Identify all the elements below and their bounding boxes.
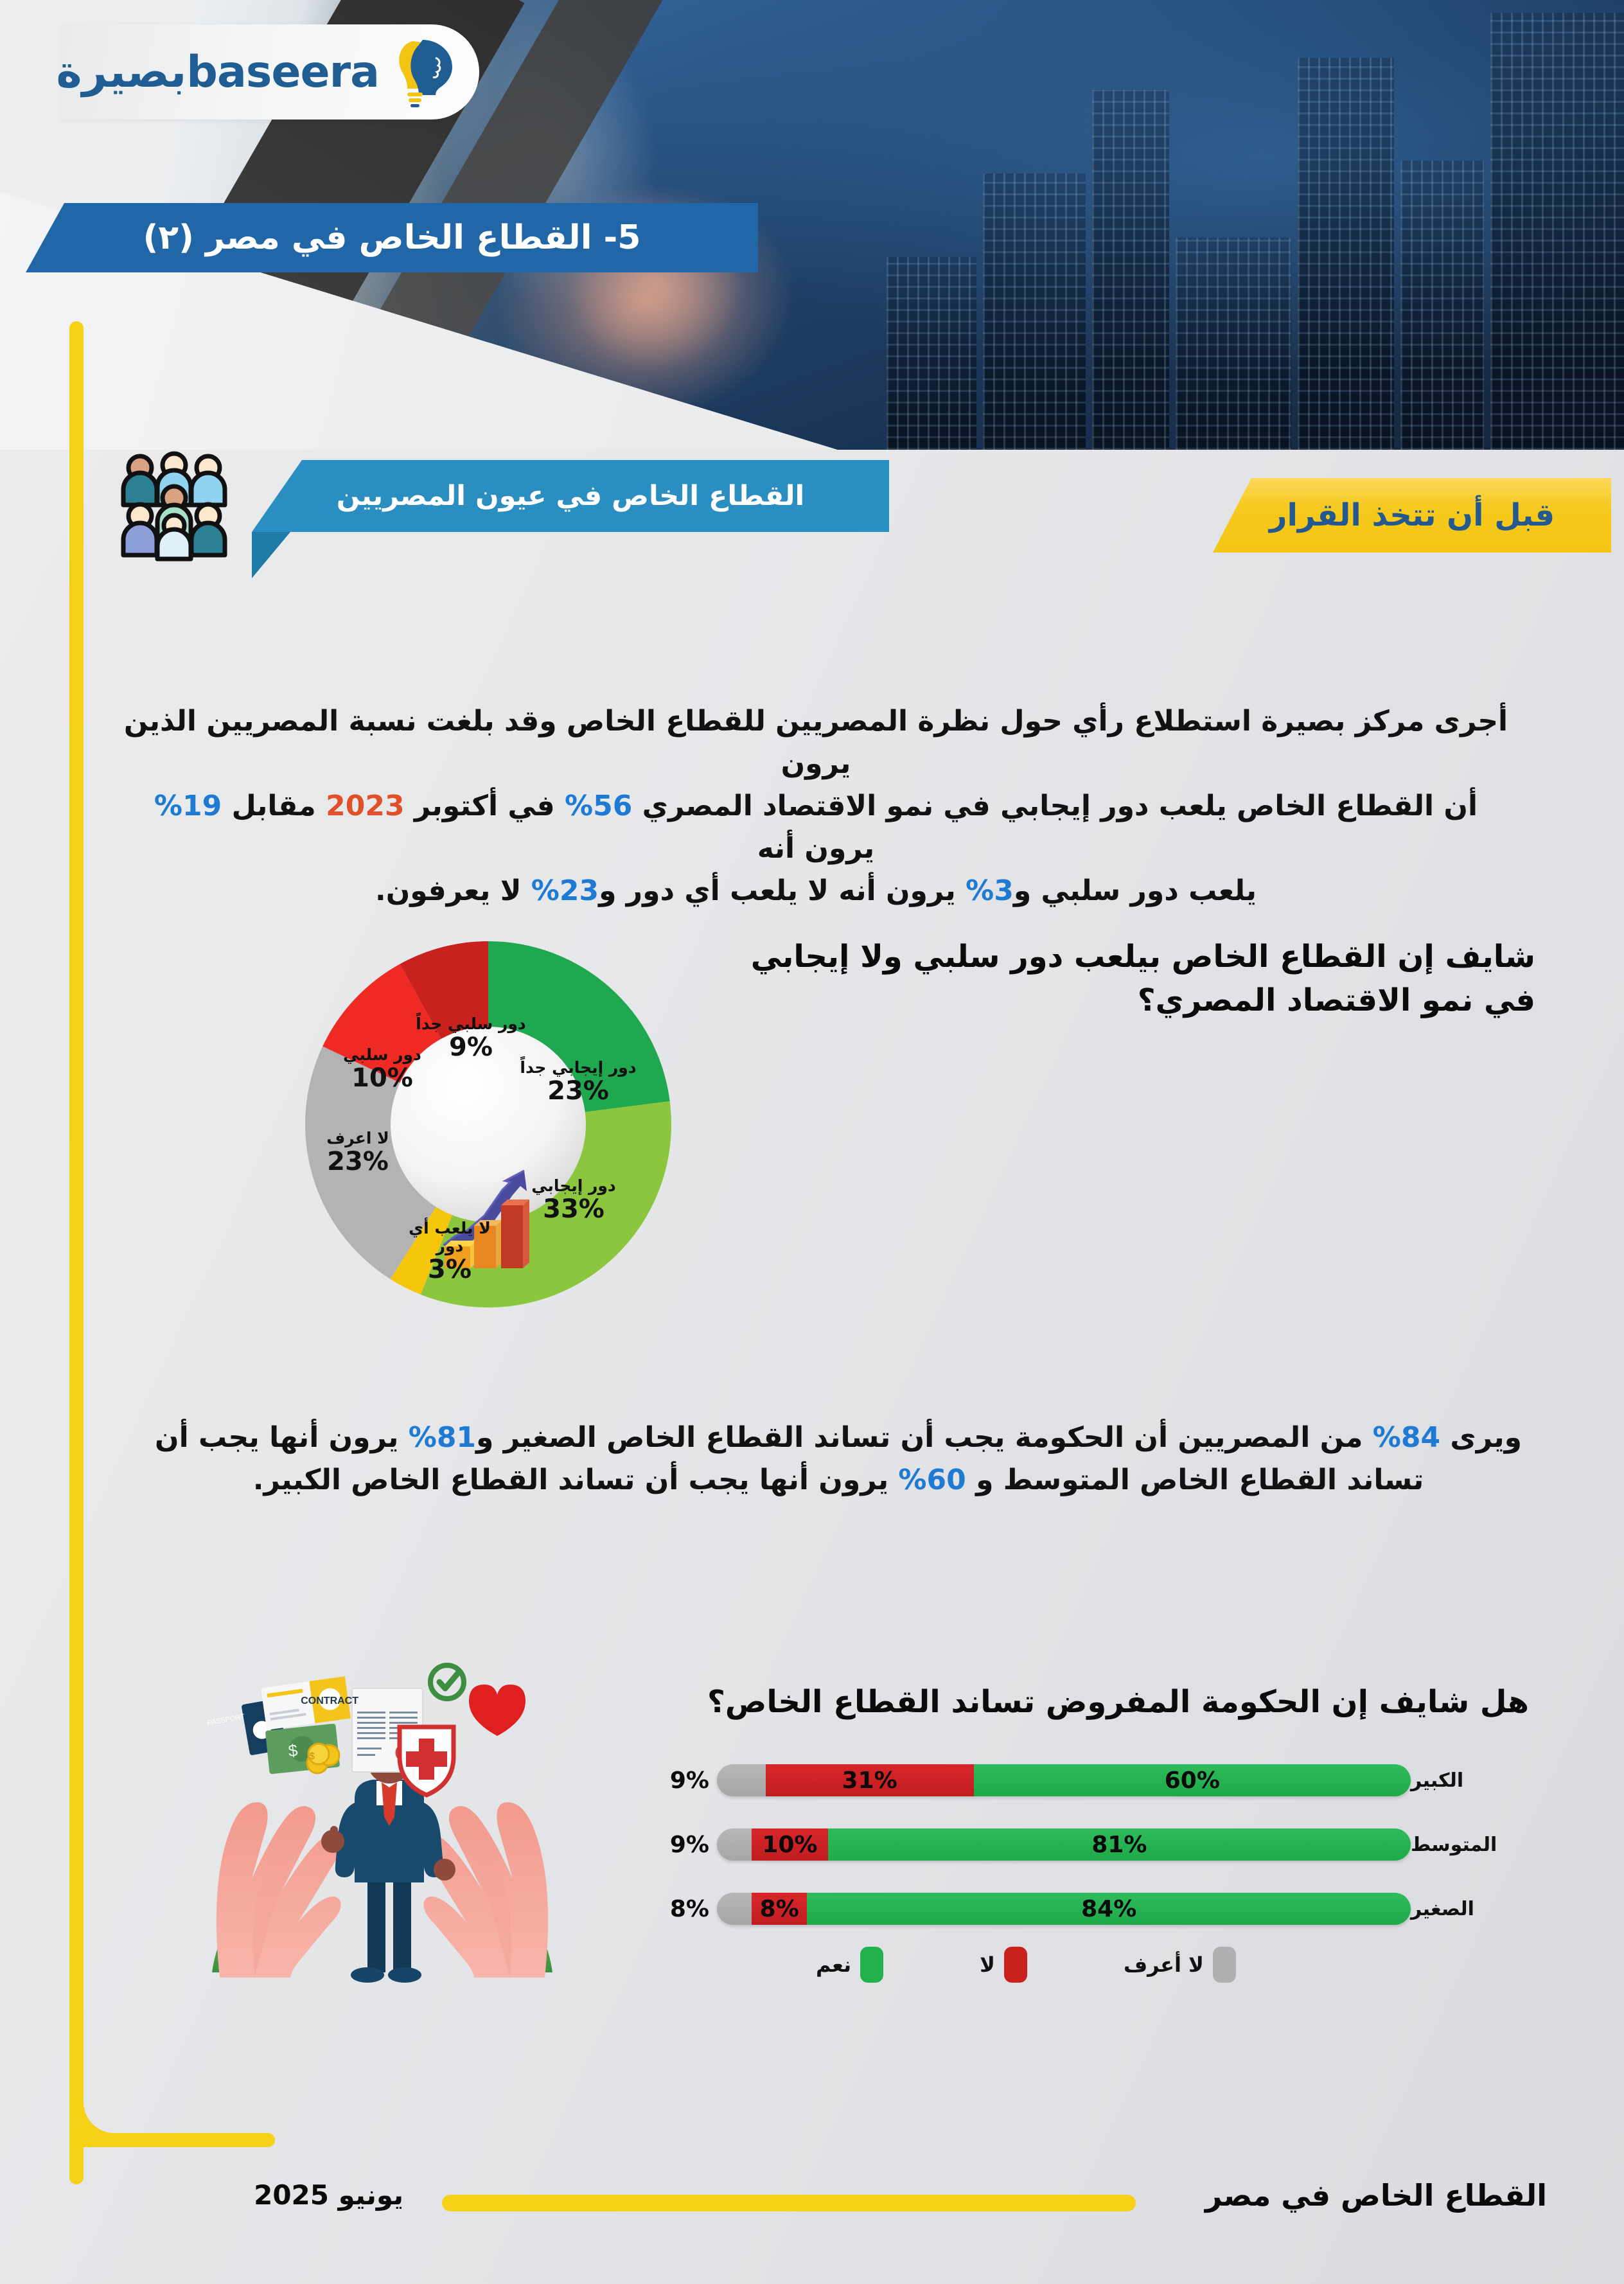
page-title: 5- القطاع الخاص في مصر (٢) (143, 218, 641, 257)
section-banner-label: القطاع الخاص في عيون المصريين (337, 480, 804, 512)
donut-label-name: دور سلبي جداً (410, 1015, 532, 1033)
bar-track: 84% 8% (717, 1893, 1411, 1925)
government-support-stacked-bars: الكبير 60% 31% 9% المتوسط 81% 10% 9% (655, 1764, 1516, 1956)
bars-legend: نعم لا لا أعرف (816, 1947, 1381, 1983)
donut-label-positive: دور إيجابي 33% (513, 1177, 635, 1224)
skyline-building (1176, 238, 1291, 450)
people-group-icon (119, 450, 229, 565)
section-banner-main: القطاع الخاص في عيون المصريين (252, 460, 889, 532)
intro-line-2b: في أكتوبر (405, 790, 565, 822)
infographic-page: baseeraبصيرة 5- القطاع الخاص في مصر (٢) (0, 0, 1624, 2284)
check-circle-icon (430, 1665, 464, 1699)
bar-track: 60% 31% (717, 1764, 1411, 1796)
bar-value-yes: 60% (1165, 1767, 1220, 1794)
bar-segment-yes: 60% (974, 1764, 1411, 1796)
donut-label-no-role: لا يلعب أي دور 3% (402, 1219, 498, 1284)
bar-row: الصغير 84% 8% 8% (655, 1892, 1516, 1925)
sec-pct-84: 84% (1373, 1421, 1440, 1454)
question-1-title: شايف إن القطاع الخاص بيلعب دور سلبي ولا … (745, 935, 1535, 1022)
page-footer: القطاع الخاص في مصر يونيو 2025 (0, 2183, 1624, 2222)
logo-arabic: بصيرة (57, 47, 187, 98)
bar-row: المتوسط 81% 10% 9% (655, 1828, 1516, 1861)
left-yellow-rail-foot (69, 2133, 275, 2147)
bar-value-no: 8% (760, 1896, 799, 1922)
donut-label-value: 10% (328, 1064, 437, 1093)
legend-swatch-yes (860, 1947, 883, 1983)
donut-label-value: 3% (402, 1255, 498, 1284)
bar-segment-yes: 84% (807, 1893, 1411, 1925)
intro-line-2d: يرون أنه (757, 832, 874, 865)
intro-line-1: أجرى مركز بصيرة استطلاع رأي حول نظرة الم… (124, 705, 1508, 780)
bar-category-label: الكبير (1411, 1769, 1516, 1792)
legend-swatch-dontknow (1213, 1947, 1236, 1983)
bar-segment-no: 31% (766, 1764, 974, 1796)
donut-label-value: 9% (410, 1033, 532, 1062)
svg-text:$: $ (310, 1751, 315, 1762)
baseera-logo[interactable]: baseeraبصيرة (62, 24, 479, 120)
intro-line-3a: يلعب دور سلبي و (1014, 874, 1257, 907)
legend-item-dontknow: لا أعرف (1124, 1947, 1236, 1983)
bar-value-dontknow: 9% (670, 1767, 709, 1794)
legend-label-dontknow: لا أعرف (1124, 1952, 1204, 1977)
donut-label-name: لا اعرف (303, 1129, 412, 1147)
medical-shield-icon (400, 1727, 454, 1795)
question-2-title: هل شايف إن الحكومة المفروض تساند القطاع … (642, 1680, 1529, 1724)
bar-value-dontknow: 9% (670, 1832, 709, 1858)
footer-title: القطاع الخاص في مصر (1205, 2178, 1547, 2213)
sec-line-2b: يرون أنها يجب أن تساند القطاع الخاص الكب… (253, 1464, 899, 1496)
question-2-text: هل شايف إن الحكومة المفروض تساند القطاع … (707, 1684, 1529, 1720)
logo-latin: baseera (186, 47, 379, 98)
intro-pct-3: 3% (966, 874, 1014, 907)
page-title-ribbon: 5- القطاع الخاص في مصر (٢) (26, 203, 758, 272)
donut-label-dontknow: لا اعرف 23% (303, 1129, 412, 1176)
bar-row: الكبير 60% 31% 9% (655, 1764, 1516, 1797)
sec-pct-60: 60% (898, 1464, 966, 1496)
side-banner-label: قبل أن تتخذ القرار (1269, 497, 1555, 533)
skyline-building (1092, 90, 1169, 450)
donut-label-value: 33% (513, 1195, 635, 1224)
legend-item-yes: نعم (816, 1947, 883, 1983)
bar-category-label: المتوسط (1411, 1834, 1516, 1856)
sec-pct-81: 81% (409, 1421, 476, 1454)
logo-wordmark: baseeraبصيرة (57, 47, 379, 98)
bar-track: 81% 10% (717, 1828, 1411, 1861)
skyline-building (1400, 161, 1484, 450)
intro-pct-56: 56% (565, 790, 632, 822)
lightbulb-head-icon (393, 36, 460, 108)
section-banner-tail (252, 532, 290, 578)
hands-protecting-businessman-illustration: PASSPORT $ $ (193, 1651, 591, 2011)
legend-label-no: لا (980, 1952, 995, 1977)
skyline-building (1490, 13, 1624, 450)
donut-label-value: 23% (514, 1077, 642, 1106)
coins-icon: $ (307, 1744, 339, 1773)
intro-line-2c: مقابل (222, 790, 326, 822)
intro-paragraph: أجرى مركز بصيرة استطلاع رأي حول نظرة الم… (116, 700, 1516, 912)
donut-label-name: لا يلعب أي دور (402, 1219, 498, 1255)
intro-line-2a: أن القطاع الخاص يلعب دور إيجابي في نمو ا… (632, 790, 1478, 822)
left-hand (216, 1802, 342, 1978)
bar-value-yes: 84% (1081, 1896, 1136, 1922)
intro-year-2023: 2023 (326, 790, 404, 822)
bar-segment-dontknow (717, 1764, 766, 1796)
footer-date: يونيو 2025 (254, 2179, 403, 2211)
side-banner-decision: قبل أن تتخذ القرار (1213, 478, 1611, 553)
sec-line-1a: ويرى (1440, 1421, 1522, 1454)
donut-label-value: 23% (303, 1147, 412, 1176)
bar-category-label: الصغير (1411, 1898, 1516, 1920)
intro-pct-19: 19% (154, 790, 222, 822)
donut-label-positive-very: دور إيجابي جداً 23% (514, 1059, 642, 1106)
right-hand (423, 1802, 548, 1978)
bar-value-yes: 81% (1091, 1832, 1147, 1858)
bar-segment-no: 10% (752, 1828, 828, 1861)
bar-value-dontknow: 8% (670, 1896, 709, 1922)
left-yellow-rail (69, 321, 84, 2184)
heart-icon (469, 1685, 525, 1736)
donut-label-name: دور إيجابي جداً (514, 1059, 642, 1077)
bar-value-no: 10% (762, 1832, 817, 1858)
contract-label: CONTRACT (301, 1695, 358, 1706)
legend-item-no: لا (980, 1947, 1027, 1983)
footer-yellow-line (442, 2195, 1136, 2211)
donut-label-name: دور إيجابي (513, 1177, 635, 1195)
question-1-line-1: شايف إن القطاع الخاص بيلعب دور سلبي ولا … (751, 939, 1535, 975)
donut-label-negative-very: دور سلبي جداً 9% (410, 1015, 532, 1062)
bar-segment-no: 8% (752, 1893, 807, 1925)
bar-segment-dontknow (717, 1893, 752, 1925)
sec-line-1c: يرون أنها يجب أن (155, 1421, 409, 1454)
role-of-private-sector-donut: دور إيجابي جداً 23% دور إيجابي 33% لا يل… (270, 899, 707, 1349)
bar-segment-yes: 81% (828, 1828, 1411, 1861)
bar-segment-dontknow (717, 1828, 752, 1861)
svg-text:PASSPORT: PASSPORT (207, 1713, 245, 1727)
sec-line-2a: تساند القطاع الخاص المتوسط و (966, 1464, 1424, 1496)
legend-label-yes: نعم (816, 1952, 851, 1977)
second-paragraph: ويرى 84% من المصريين أن الحكومة يجب أن ت… (148, 1417, 1529, 1501)
bar-value-no: 31% (842, 1767, 897, 1794)
skyline-building (1298, 58, 1394, 450)
legend-swatch-no (1004, 1947, 1027, 1983)
sec-line-1b: من المصريين أن الحكومة يجب أن تساند القط… (476, 1421, 1373, 1454)
question-1-line-2: في نمو الاقتصاد المصري؟ (1138, 982, 1535, 1018)
skyline-building (983, 173, 1086, 450)
